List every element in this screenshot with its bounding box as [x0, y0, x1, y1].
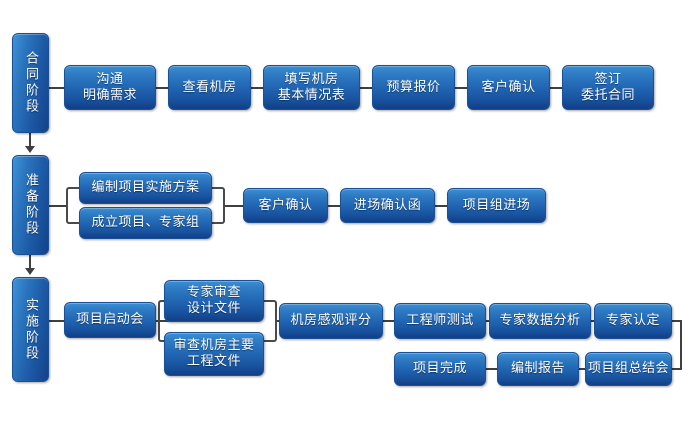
node-label: 签订 委托合同 — [581, 72, 635, 104]
node-label: 工程师测试 — [406, 313, 474, 329]
node-label: 专家数据分析 — [499, 313, 580, 329]
node-client-confirm-1[interactable]: 客户确认 — [467, 65, 550, 110]
node-label: 填写机房 基本情况表 — [278, 72, 346, 104]
node-entry-confirmation-letter[interactable]: 进场确认函 — [340, 188, 435, 223]
stage-label-contract: 合同阶段 — [24, 51, 37, 115]
node-label: 编制项目实施方案 — [91, 180, 199, 196]
arrowhead-stage2-stage3 — [25, 268, 35, 275]
node-expert-review-design-docs[interactable]: 专家审查 设计文件 — [164, 280, 264, 322]
merge-bracket-right-row3 — [264, 300, 277, 342]
node-budget-quotation[interactable]: 预算报价 — [372, 65, 455, 110]
node-label: 编制报告 — [511, 361, 565, 377]
node-project-team-summary-meeting[interactable]: 项目组总结会 — [585, 352, 672, 386]
node-label: 专家认定 — [606, 313, 660, 329]
node-client-confirm-2[interactable]: 客户确认 — [243, 188, 328, 223]
node-project-kickoff-meeting[interactable]: 项目启动会 — [64, 302, 156, 338]
stage-box-prepare[interactable]: 准备阶段 — [12, 155, 49, 255]
node-label: 项目完成 — [413, 361, 467, 377]
node-expert-certification[interactable]: 专家认定 — [594, 303, 672, 339]
node-sign-entrustment-contract[interactable]: 签订 委托合同 — [562, 65, 654, 110]
connector-stage2-fork — [49, 205, 66, 207]
node-label: 沟通 明确需求 — [83, 72, 137, 104]
connector-stage3-r3n0 — [49, 320, 64, 322]
node-compile-report[interactable]: 编制报告 — [497, 352, 579, 386]
connector-r3n1-r3n2 — [383, 320, 394, 322]
node-label: 审查机房主要 工程文件 — [173, 338, 254, 370]
connector-wrap-vertical — [680, 320, 682, 370]
node-engineer-testing[interactable]: 工程师测试 — [394, 303, 486, 339]
connector-r1n2-r1n3 — [251, 87, 263, 89]
stage-label-implement: 实施阶段 — [24, 298, 37, 362]
connector-r4n1-r4n2 — [486, 368, 497, 370]
connector-r1n3-r1n4 — [360, 87, 372, 89]
merge-bracket-right-row2 — [212, 187, 225, 224]
node-project-completion[interactable]: 项目完成 — [394, 352, 486, 386]
node-label: 项目组进场 — [463, 198, 531, 214]
node-label: 客户确认 — [258, 198, 312, 214]
stage-label-prepare: 准备阶段 — [24, 173, 37, 237]
node-review-room-main-engineering-docs[interactable]: 审查机房主要 工程文件 — [164, 332, 264, 376]
connector-fork-r2n1 — [225, 205, 243, 207]
stage-box-implement[interactable]: 实施阶段 — [12, 277, 49, 382]
connector-r1n4-r1n5 — [455, 87, 467, 89]
node-label: 查看机房 — [182, 80, 236, 96]
node-expert-data-analysis[interactable]: 专家数据分析 — [489, 303, 591, 339]
node-label: 专家审查 设计文件 — [187, 285, 241, 317]
node-fill-room-basic-form[interactable]: 填写机房 基本情况表 — [263, 65, 360, 110]
node-communicate-requirements[interactable]: 沟通 明确需求 — [64, 65, 156, 110]
node-prepare-implementation-plan[interactable]: 编制项目实施方案 — [79, 172, 212, 204]
node-room-perception-scoring[interactable]: 机房感观评分 — [279, 303, 383, 339]
node-label: 项目组总结会 — [588, 361, 669, 377]
connector-stage1-r1n1 — [49, 87, 64, 89]
connector-r2n2-r2n3 — [435, 205, 447, 207]
flowchart-canvas: 合同阶段 准备阶段 实施阶段 沟通 明确需求 查看机房 填写机房 基本情况表 预… — [0, 0, 690, 439]
node-label: 机房感观评分 — [290, 313, 371, 329]
connector-r1n1-r1n2 — [156, 87, 168, 89]
node-project-team-entry[interactable]: 项目组进场 — [447, 188, 546, 223]
node-establish-project-expert-group[interactable]: 成立项目、专家组 — [79, 207, 212, 239]
arrowhead-stage1-stage2 — [25, 146, 35, 153]
node-inspect-computer-room[interactable]: 查看机房 — [168, 65, 251, 110]
connector-r2n1-r2n2 — [328, 205, 340, 207]
node-label: 客户确认 — [481, 80, 535, 96]
node-label: 成立项目、专家组 — [91, 215, 199, 231]
node-label: 进场确认函 — [354, 198, 422, 214]
stage-box-contract[interactable]: 合同阶段 — [12, 33, 49, 133]
fork-bracket-left-row2 — [66, 187, 79, 224]
node-label: 预算报价 — [386, 80, 440, 96]
connector-r1n5-r1n6 — [550, 87, 562, 89]
node-label: 项目启动会 — [76, 312, 144, 328]
